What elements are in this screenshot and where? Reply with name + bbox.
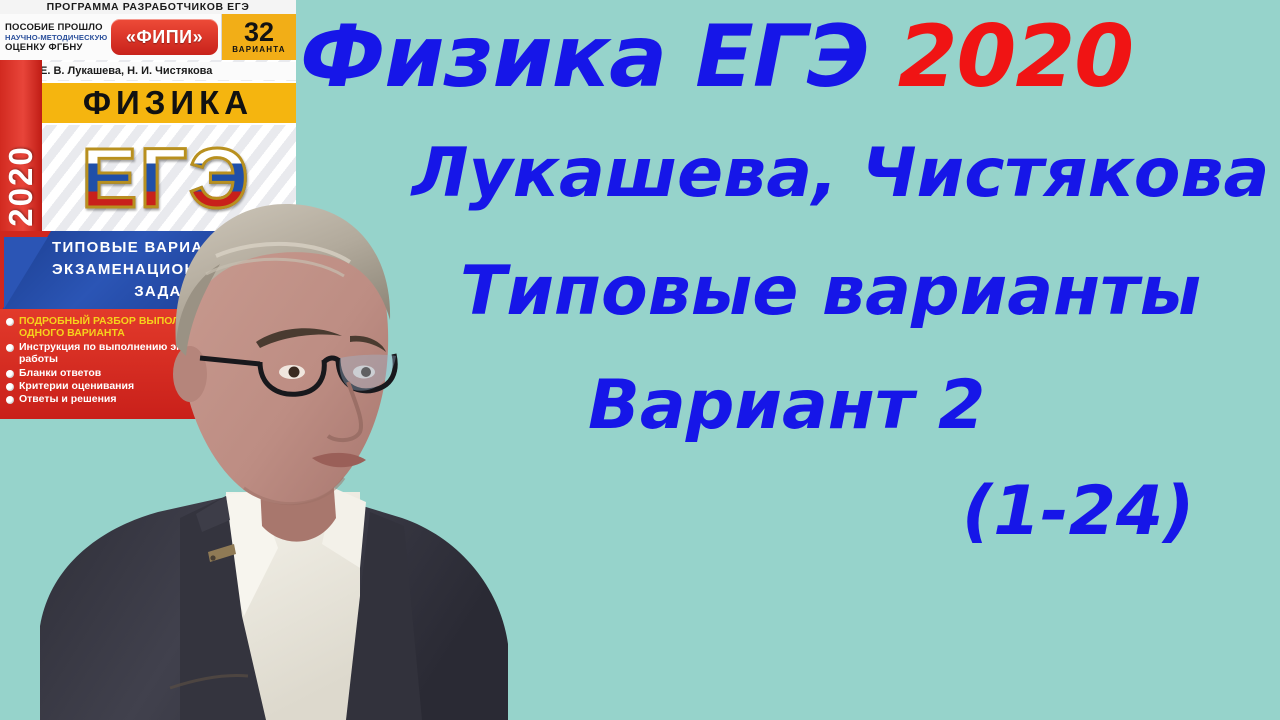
title-authors: Лукашева, Чистякова	[412, 140, 1269, 208]
book-approval-block: ПОСОБИЕ ПРОШЛО НАУЧНО-МЕТОДИЧЕСКУЮ ОЦЕНК…	[0, 14, 108, 60]
title-variant-type: Типовые варианты	[460, 258, 1201, 326]
bullet-dot-icon	[6, 344, 14, 352]
approval-line-3: ОЦЕНКУ ФГБНУ	[5, 42, 83, 53]
title-subject: Физика ЕГЭ	[300, 7, 898, 107]
fipi-badge: «ФИПИ»	[111, 19, 218, 55]
book-subject-text: ФИЗИКА	[83, 84, 253, 122]
book-subject-band: ФИЗИКА	[40, 81, 296, 125]
title-task-range: (1-24)	[962, 478, 1194, 546]
bullet-dot-icon	[6, 370, 14, 378]
ear-shape	[173, 346, 207, 402]
bullet-dot-icon	[6, 318, 14, 326]
page-title: Физика ЕГЭ 2020	[300, 14, 1133, 100]
variants-count: 32	[244, 20, 274, 46]
approval-line-1: ПОСОБИЕ ПРОШЛО	[5, 22, 103, 33]
bullet-dot-icon	[6, 396, 14, 404]
title-variant-number: Вариант 2	[588, 372, 985, 440]
fipi-badge-label: «ФИПИ»	[126, 27, 203, 48]
approval-line-2: НАУЧНО-МЕТОДИЧЕСКУЮ	[5, 33, 107, 42]
bullet-dot-icon	[6, 383, 14, 391]
book-top-banner: ПРОГРАММА РАЗРАБОТЧИКОВ ЕГЭ	[0, 0, 296, 15]
book-top-banner-text: ПРОГРАММА РАЗРАБОТЧИКОВ ЕГЭ	[47, 1, 250, 13]
presenter-portrait	[30, 196, 530, 720]
video-thumbnail: ПРОГРАММА РАЗРАБОТЧИКОВ ЕГЭ ПОСОБИЕ ПРОШ…	[0, 0, 1280, 720]
book-fipi-row: ПОСОБИЕ ПРОШЛО НАУЧНО-МЕТОДИЧЕСКУЮ ОЦЕНК…	[0, 14, 296, 60]
book-authors-text: Е. В. Лукашева, Н. И. Чистякова	[40, 65, 212, 77]
variants-badge: 32 ВАРИАНТА	[221, 14, 296, 60]
title-year: 2020	[898, 7, 1133, 107]
variants-label: ВАРИАНТА	[232, 45, 286, 54]
lapel-pin-hole	[210, 555, 215, 560]
book-authors: Е. В. Лукашева, Н. И. Чистякова	[40, 62, 296, 80]
eye-left-iris	[289, 367, 300, 378]
